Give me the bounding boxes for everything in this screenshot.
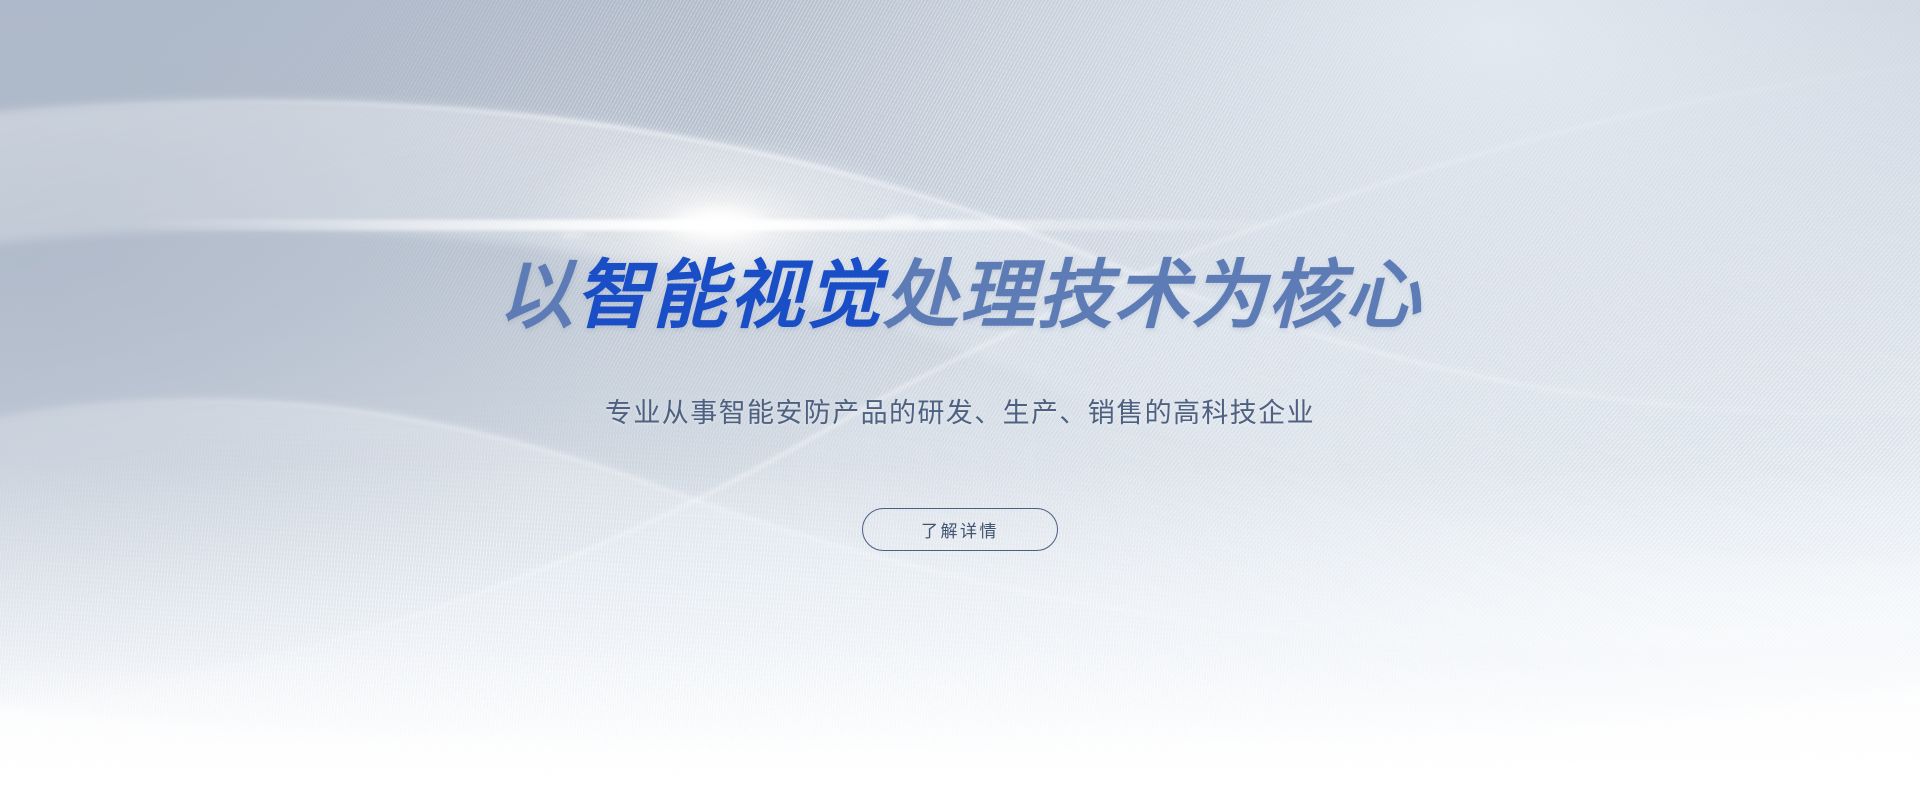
- headline-segment-2: 智能视觉: [575, 253, 883, 337]
- hero-subtitle: 专业从事智能安防产品的研发、生产、销售的高科技企业: [0, 396, 1920, 431]
- hero-cta-wrapper: 了解详情: [0, 508, 1920, 551]
- hero-banner: 以智能视觉处理技术为核心 专业从事智能安防产品的研发、生产、销售的高科技企业 了…: [0, 0, 1920, 800]
- hero-headline: 以智能视觉处理技术为核心: [0, 258, 1920, 333]
- hero-content: 以智能视觉处理技术为核心 专业从事智能安防产品的研发、生产、销售的高科技企业 了…: [0, 0, 1920, 800]
- headline-segment-1: 以: [498, 253, 575, 337]
- headline-segment-3: 处理技术为核心: [883, 253, 1422, 337]
- learn-more-button[interactable]: 了解详情: [862, 508, 1058, 551]
